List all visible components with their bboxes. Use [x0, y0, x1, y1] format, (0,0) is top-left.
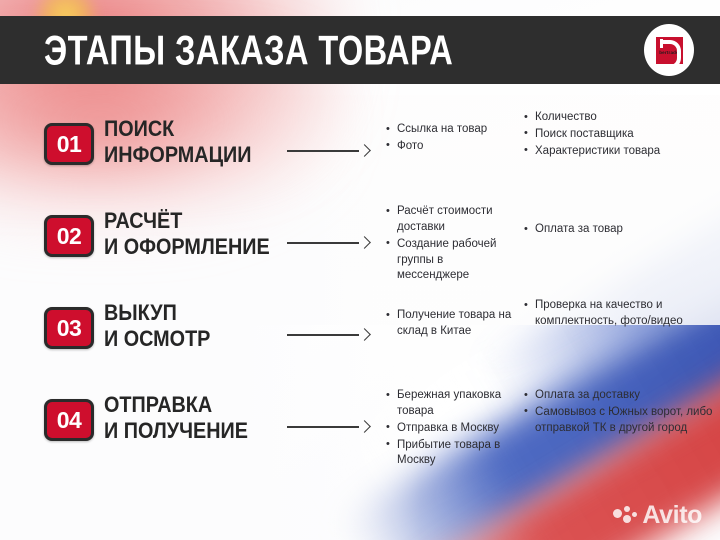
list-item: Бережная упаковка товара [386, 388, 518, 420]
detail-list: Оплата за доставку Самовывоз с Южных вор… [524, 388, 714, 437]
arrow-shaft [287, 426, 359, 428]
list-item: Получение товара на склад в Китае [386, 308, 518, 340]
arrow-shaft [287, 150, 359, 152]
flow-arrow-icon [287, 144, 369, 156]
step-title: РАСЧЁТ И ОФОРМЛЕНИЕ [104, 208, 270, 259]
step-detail-column-a: Ссылка на товар Фото [386, 122, 518, 156]
list-item: Создание рабочей группы в мессенджере [386, 237, 518, 285]
step-title-line2: ИНФОРМАЦИИ [104, 142, 252, 168]
list-item: Количество [524, 110, 714, 126]
list-item: Оплата за доставку [524, 388, 714, 404]
step-title: ПОИСК ИНФОРМАЦИИ [104, 116, 252, 167]
step-title-line1: ПОИСК [104, 116, 252, 142]
step-title-line1: ВЫКУП [104, 300, 210, 326]
list-item: Прибытие товара в Москву [386, 438, 518, 470]
infographic-canvas: ЭТАПЫ ЗАКАЗА ТОВАРА bertrade 01 ПОИСК ИН… [0, 0, 720, 540]
flow-arrow-icon [287, 328, 369, 340]
step-detail-column-b: Количество Поиск поставщика Характеристи… [524, 110, 714, 161]
list-item: Оплата за товар [524, 222, 714, 238]
detail-list: Проверка на качество и комплектность, фо… [524, 298, 714, 330]
arrow-head [358, 328, 371, 341]
step-title-line1: РАСЧЁТ [104, 208, 270, 234]
step-title: ОТПРАВКА И ПОЛУЧЕНИЕ [104, 392, 248, 443]
list-item: Проверка на качество и комплектность, фо… [524, 298, 714, 330]
flow-arrow-icon [287, 420, 369, 432]
list-item: Ссылка на товар [386, 122, 518, 138]
step-title-line1: ОТПРАВКА [104, 392, 248, 418]
step-row: 03 ВЫКУП И ОСМОТР Получение товара на ск… [0, 288, 720, 380]
step-number-badge: 03 [44, 307, 94, 349]
step-row: 04 ОТПРАВКА И ПОЛУЧЕНИЕ Бережная упаковк… [0, 380, 720, 472]
step-row: 02 РАСЧЁТ И ОФОРМЛЕНИЕ Расчёт стоимости … [0, 196, 720, 288]
list-item: Фото [386, 139, 518, 155]
step-row: 01 ПОИСК ИНФОРМАЦИИ Ссылка на товар Фото… [0, 104, 720, 196]
header-bar: ЭТАПЫ ЗАКАЗА ТОВАРА bertrade [0, 16, 720, 84]
step-detail-column-b: Оплата за товар [524, 222, 714, 239]
step-number-badge: 01 [44, 123, 94, 165]
steps-list: 01 ПОИСК ИНФОРМАЦИИ Ссылка на товар Фото… [0, 104, 720, 472]
list-item: Поиск поставщика [524, 127, 714, 143]
detail-list: Количество Поиск поставщика Характеристи… [524, 110, 714, 160]
arrow-head [358, 236, 371, 249]
detail-list: Ссылка на товар Фото [386, 122, 518, 155]
logo-wordmark: bertrade [656, 50, 683, 56]
avito-dot [632, 512, 637, 517]
step-number-badge: 04 [44, 399, 94, 441]
step-title: ВЫКУП И ОСМОТР [104, 300, 210, 351]
avito-wordmark: Avito [642, 503, 702, 528]
step-number-badge: 02 [44, 215, 94, 257]
page-title: ЭТАПЫ ЗАКАЗА ТОВАРА [44, 29, 453, 70]
arrow-head [358, 420, 371, 433]
list-item: Самовывоз с Южных ворот, либо отправкой … [524, 405, 714, 437]
step-title-line2: И ПОЛУЧЕНИЕ [104, 418, 248, 444]
avito-dot [623, 515, 631, 523]
step-detail-column-a: Расчёт стоимости доставки Создание рабоч… [386, 204, 518, 285]
company-logo: bertrade [644, 24, 694, 76]
step-title-line2: И ОФОРМЛЕНИЕ [104, 234, 270, 260]
avito-dot [624, 506, 630, 512]
step-detail-column-a: Бережная упаковка товара Отправка в Моск… [386, 388, 518, 470]
detail-list: Оплата за товар [524, 222, 714, 238]
flow-arrow-icon [287, 236, 369, 248]
avito-dots-icon [613, 506, 637, 526]
arrow-shaft [287, 242, 359, 244]
arrow-shaft [287, 334, 359, 336]
detail-list: Расчёт стоимости доставки Создание рабоч… [386, 204, 518, 284]
list-item: Отправка в Москву [386, 421, 518, 437]
step-title-line2: И ОСМОТР [104, 326, 210, 352]
detail-list: Бережная упаковка товара Отправка в Моск… [386, 388, 518, 469]
arrow-head [358, 144, 371, 157]
step-detail-column-b: Оплата за доставку Самовывоз с Южных вор… [524, 388, 714, 438]
list-item: Характеристики товара [524, 144, 714, 160]
step-detail-column-a: Получение товара на склад в Китае [386, 308, 518, 341]
avito-watermark: Avito [613, 503, 702, 528]
detail-list: Получение товара на склад в Китае [386, 308, 518, 340]
avito-dot [613, 509, 622, 518]
list-item: Расчёт стоимости доставки [386, 204, 518, 236]
bertrade-mark-icon: bertrade [656, 37, 683, 64]
step-detail-column-b: Проверка на качество и комплектность, фо… [524, 298, 714, 331]
